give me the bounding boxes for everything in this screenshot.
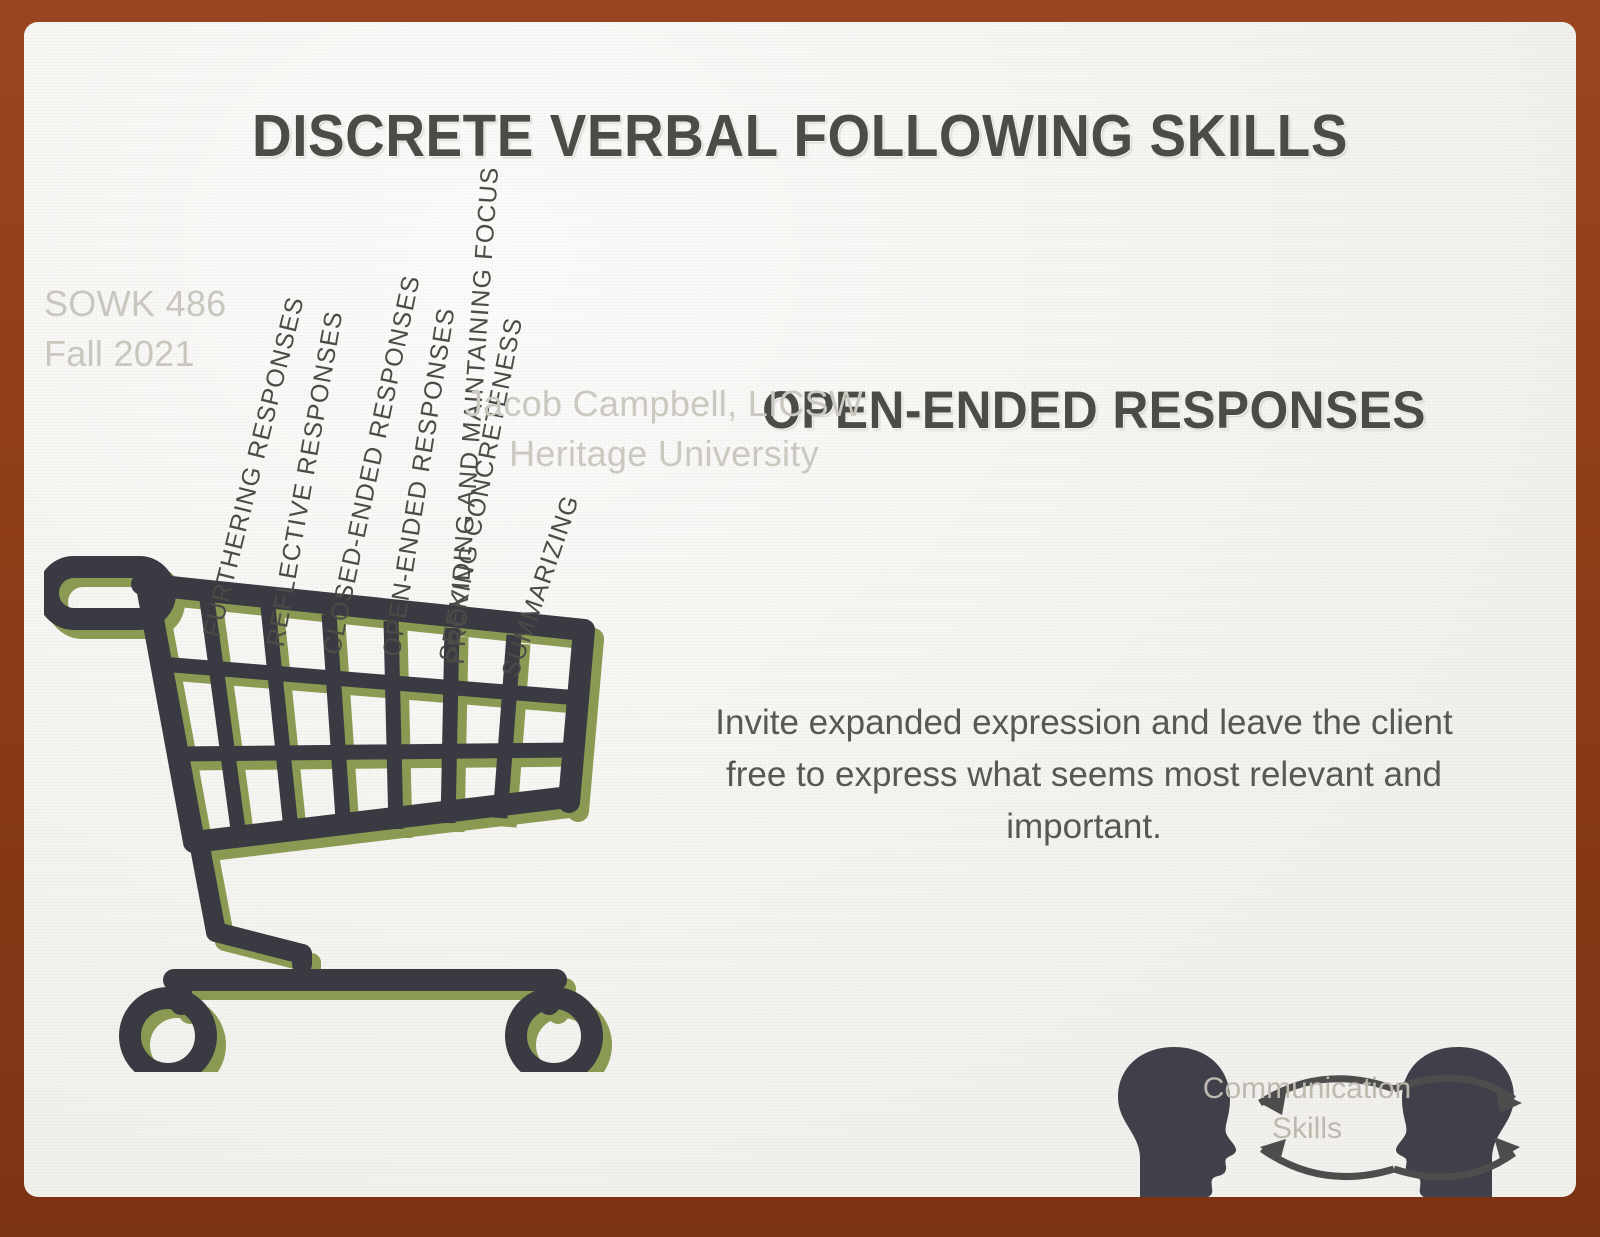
footer-institution: Heritage University (354, 429, 974, 479)
footer-course: SOWK 486 (44, 279, 1576, 329)
footer-course-block: SOWK 486 Fall 2021 (44, 279, 1576, 379)
communication-skills-label: Communication Skills (1182, 1069, 1432, 1149)
logo-line-1: Communication (1182, 1069, 1432, 1109)
footer-presenter-block: Jacob Campbell, LICSW Heritage Universit… (354, 379, 974, 479)
logo-line-2: Skills (1182, 1109, 1432, 1149)
slide-frame: DISCRETE VERBAL FOLLOWING SKILLS OPEN-EN… (0, 0, 1600, 1237)
page-title: DISCRETE VERBAL FOLLOWING SKILLS (78, 102, 1521, 170)
body-text: Invite expanded expression and leave the… (714, 697, 1454, 853)
communication-skills-logo: Communication Skills (1022, 1041, 1576, 1197)
footer-presenter: Jacob Campbell, LICSW (354, 379, 974, 429)
footer-term: Fall 2021 (44, 329, 1576, 379)
slide-paper: DISCRETE VERBAL FOLLOWING SKILLS OPEN-EN… (24, 22, 1576, 1197)
shopping-cart-illustration: FURTHERING RESPONSES REFLECTIVE RESPONSE… (44, 512, 644, 1072)
